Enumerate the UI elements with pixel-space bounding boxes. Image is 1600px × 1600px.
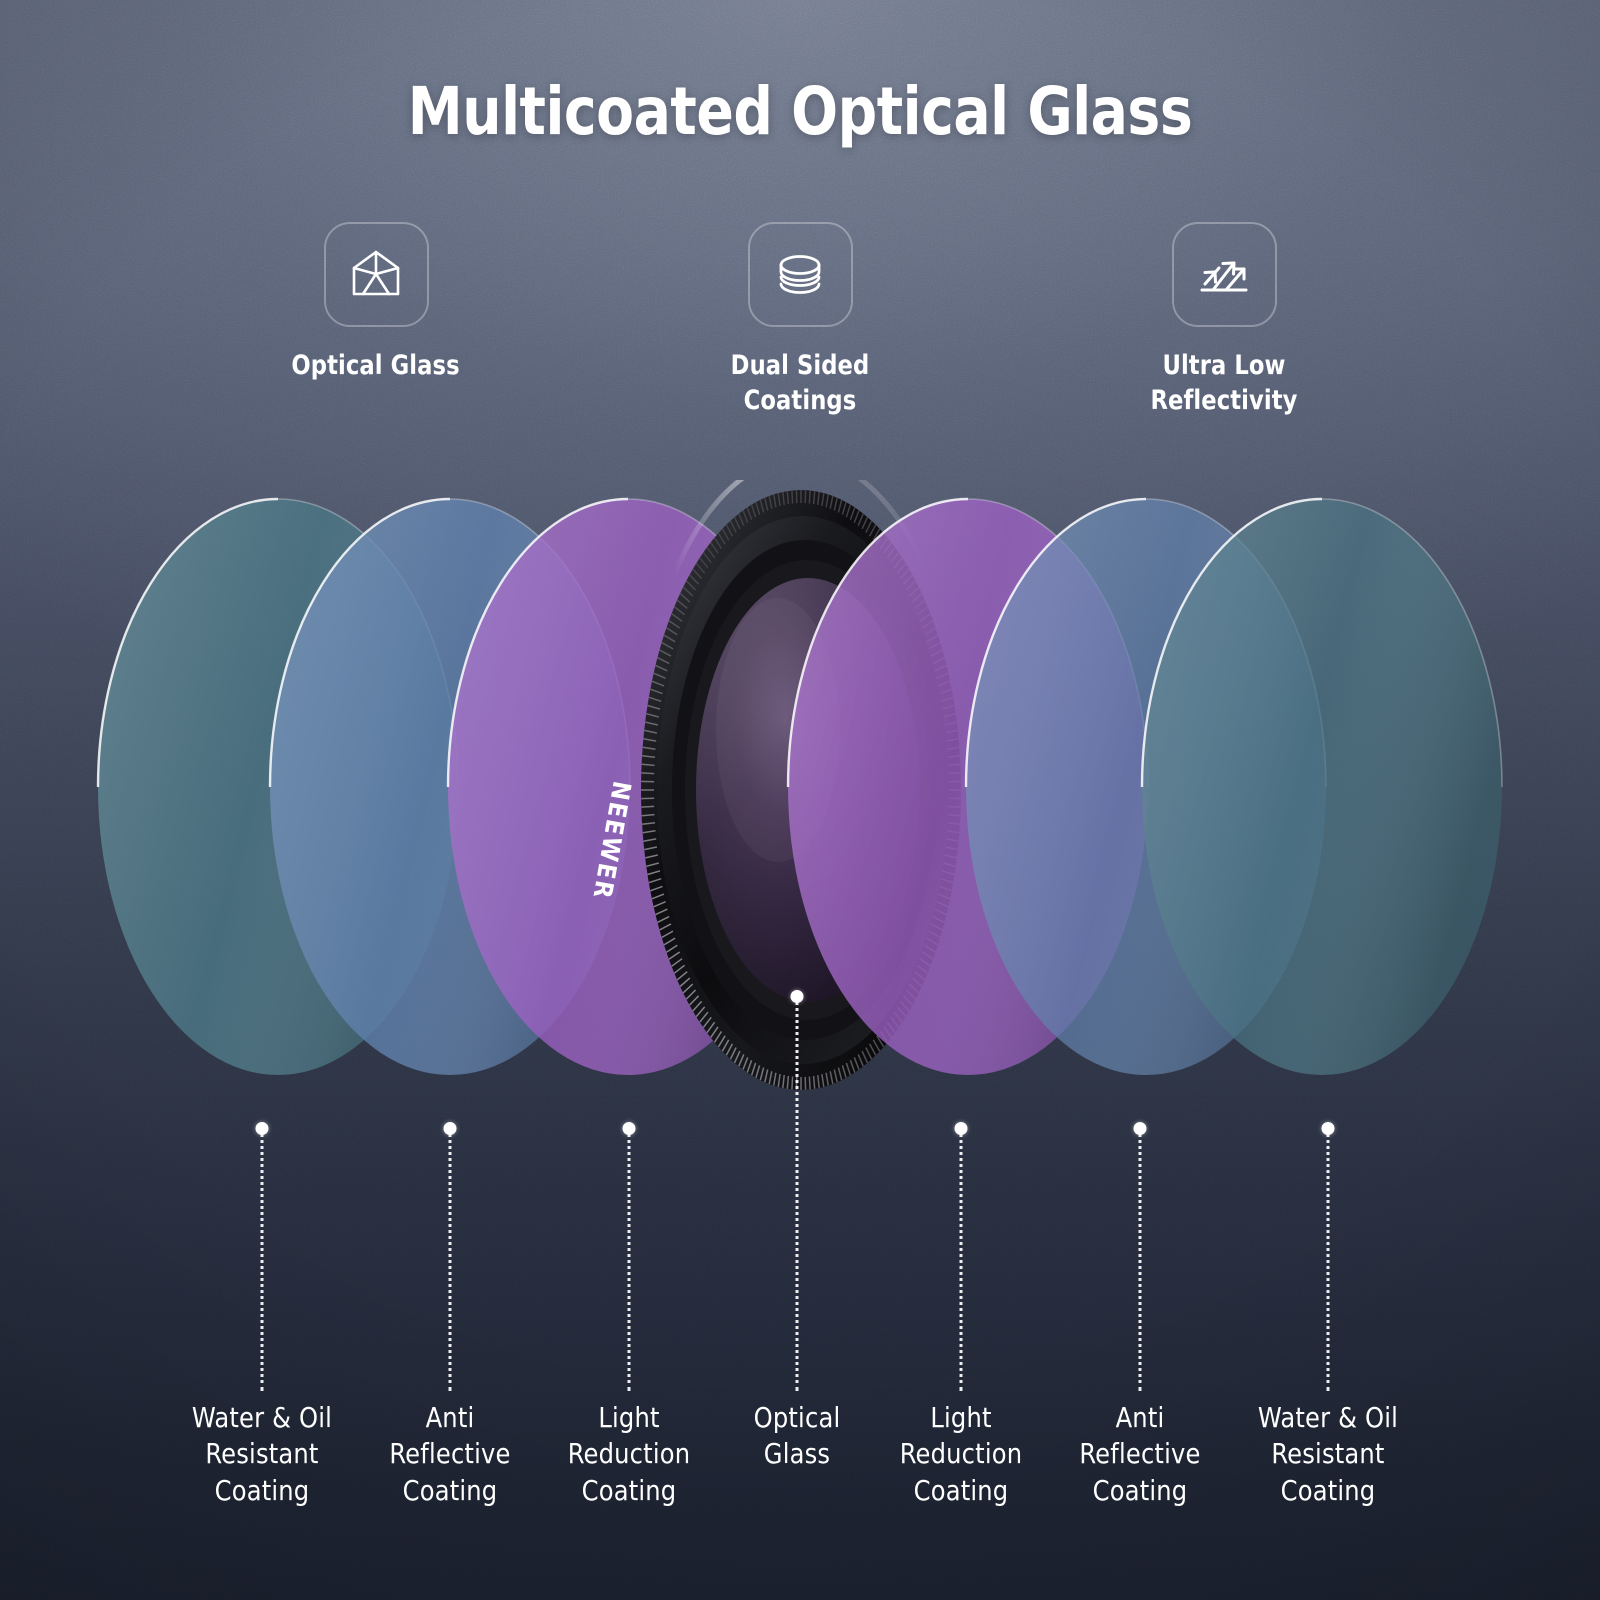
callout-dotted-line [449,1133,452,1391]
callout-label: Water & OilResistantCoating [1218,1400,1439,1509]
callout-water-oil-right [1268,1122,1388,1394]
callout-dotted-line [1327,1133,1330,1391]
callout-dotted-line [1139,1133,1142,1391]
callout-dotted-line [261,1133,264,1391]
callout-dotted-line [796,1001,799,1391]
callout-water-oil-left [202,1122,322,1394]
callout-light-reduction-left [569,1122,689,1394]
callout-dotted-line [628,1133,631,1391]
callout-anti-reflective-right [1080,1122,1200,1394]
callout-label-line2: Resistant [1218,1436,1439,1472]
water-oil-resistant-coating-right [1142,499,1502,1075]
callout-label-line3: Coating [1218,1473,1439,1509]
callout-optical-glass-center [737,990,857,1394]
callout-dotted-line [960,1133,963,1391]
infographic-canvas: Multicoated Optical Glass Optical Glass [0,0,1600,1600]
callout-label-line3: Coating [519,1473,740,1509]
callout-light-reduction-right [901,1122,1021,1394]
callout-anti-reflective-left [390,1122,510,1394]
callout-label-line1: Water & Oil [1218,1400,1439,1436]
